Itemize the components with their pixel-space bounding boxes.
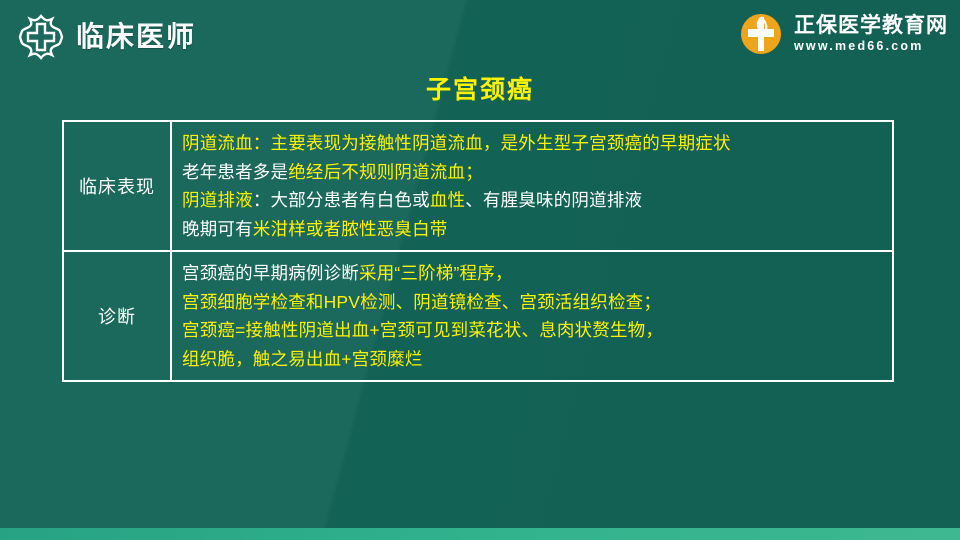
page-title: 子宫颈癌 xyxy=(0,70,960,106)
text-segment: 、有腥臭味的阴道排液 xyxy=(465,190,642,210)
table-body: 临床表现 阴道流血：主要表现为接触性阴道流血，是外生型子宫颈癌的早期症状 老年患… xyxy=(63,121,893,381)
text-segment: 宫颈癌=接触性阴道出血+宫颈可见到菜花状、息肉状赘生物， xyxy=(182,320,663,340)
medical-cross-quatrefoil-icon xyxy=(16,12,66,62)
content-line: 宫颈细胞学检查和HPV检测、阴道镜检查、宫颈活组织检查； xyxy=(182,288,892,317)
content-line: 宫颈癌=接触性阴道出血+宫颈可见到菜花状、息肉状赘生物， xyxy=(182,316,892,345)
row-content-clinical: 阴道流血：主要表现为接触性阴道流血，是外生型子宫颈癌的早期症状 老年患者多是绝经… xyxy=(171,121,893,251)
right-brand: 正保医学教育网 www.med66.com xyxy=(736,9,948,59)
bottom-accent-bar xyxy=(0,528,960,540)
text-segment: 血性 xyxy=(430,190,465,210)
right-brand-text: 正保医学教育网 www.med66.com xyxy=(794,14,948,54)
right-brand-name: 正保医学教育网 xyxy=(794,14,948,37)
content-line: 阴道流血：主要表现为接触性阴道流血，是外生型子宫颈癌的早期症状 xyxy=(182,129,892,158)
text-segment: 晚期可有 xyxy=(182,219,253,239)
text-segment: ：大部分患者有白色或 xyxy=(253,190,430,210)
content-line: 老年患者多是绝经后不规则阴道流血； xyxy=(182,158,892,187)
text-segment: 阴道排液 xyxy=(182,190,253,210)
slide-canvas: 临床医师 正保医学教育网 www.med66.com 子宫颈癌 临床表现 阴道流… xyxy=(0,0,960,540)
content-line: 组织脆，触之易出血+宫颈糜烂 xyxy=(182,345,892,374)
text-segment: 采用“三阶梯”程序， xyxy=(359,263,513,283)
content-line: 宫颈癌的早期病例诊断采用“三阶梯”程序， xyxy=(182,259,892,288)
table-row: 诊断 宫颈癌的早期病例诊断采用“三阶梯”程序， 宫颈细胞学检查和HPV检测、阴道… xyxy=(63,251,893,381)
right-brand-url: www.med66.com xyxy=(794,38,924,54)
text-segment: 米泔样或者脓性恶臭白带 xyxy=(253,219,448,239)
row-content-diagnosis: 宫颈癌的早期病例诊断采用“三阶梯”程序， 宫颈细胞学检查和HPV检测、阴道镜检查… xyxy=(171,251,893,381)
text-segment: 宫颈癌的早期病例诊断 xyxy=(182,263,359,283)
text-segment: 绝经后不规则阴道流血； xyxy=(288,162,483,182)
text-segment: 宫颈细胞学检查和HPV检测、阴道镜检查、宫颈活组织检查； xyxy=(182,292,661,312)
row-label-diagnosis: 诊断 xyxy=(63,251,171,381)
content-line: 晚期可有米泔样或者脓性恶臭白带 xyxy=(182,215,892,244)
text-segment: 阴道流血：主要表现为接触性阴道流血，是外生型子宫颈癌的早期症状 xyxy=(182,133,731,153)
content-line: 阴道排液：大部分患者有白色或血性、有腥臭味的阴道排液 xyxy=(182,186,892,215)
content-table: 临床表现 阴道流血：主要表现为接触性阴道流血，是外生型子宫颈癌的早期症状 老年患… xyxy=(62,120,894,382)
orange-circle-cross-icon xyxy=(736,9,786,59)
table-row: 临床表现 阴道流血：主要表现为接触性阴道流血，是外生型子宫颈癌的早期症状 老年患… xyxy=(63,121,893,251)
left-brand: 临床医师 xyxy=(16,12,196,62)
text-segment: 组织脆，触之易出血+宫颈糜烂 xyxy=(182,349,423,369)
left-brand-label: 临床医师 xyxy=(76,23,196,51)
text-segment: 老年患者多是 xyxy=(182,162,288,182)
row-label-clinical: 临床表现 xyxy=(63,121,171,251)
